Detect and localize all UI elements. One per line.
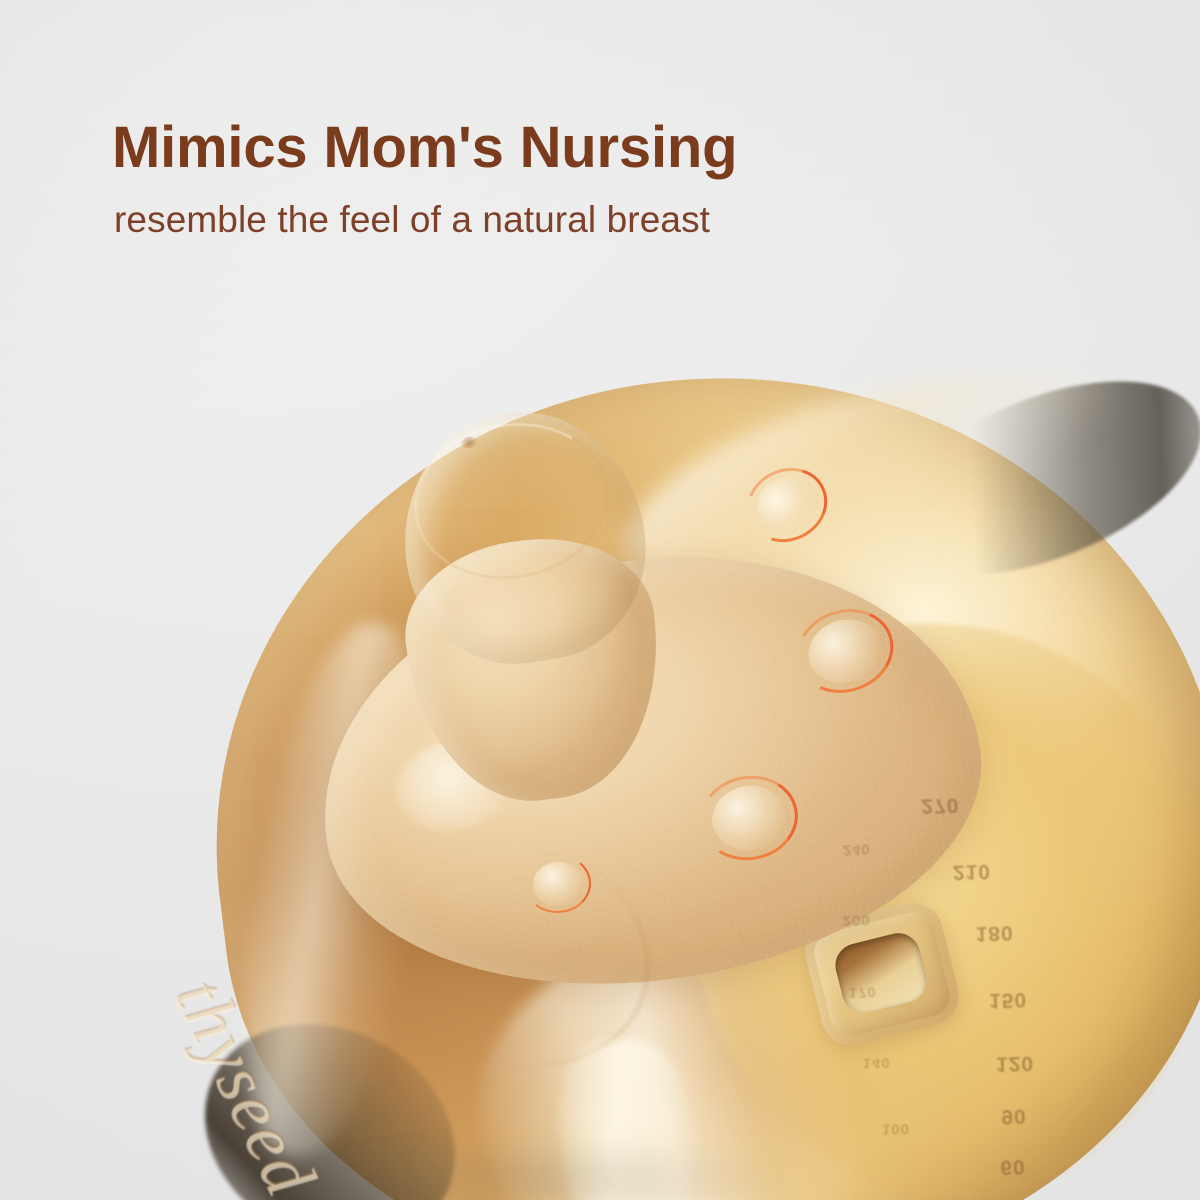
texture-bump-accent-4 (532, 860, 585, 907)
texture-bump-accent-3 (707, 780, 791, 856)
product-hero-image: 270 210 180 150 120 90 60 240 200 170 14… (0, 0, 1200, 1200)
subheadline: resemble the feel of a natural breast (114, 201, 737, 240)
texture-bump-accent-2 (800, 610, 890, 692)
headline: Mimics Mom's Nursing (112, 118, 737, 177)
marketing-copy: Mimics Mom's Nursing resemble the feel o… (112, 118, 737, 240)
